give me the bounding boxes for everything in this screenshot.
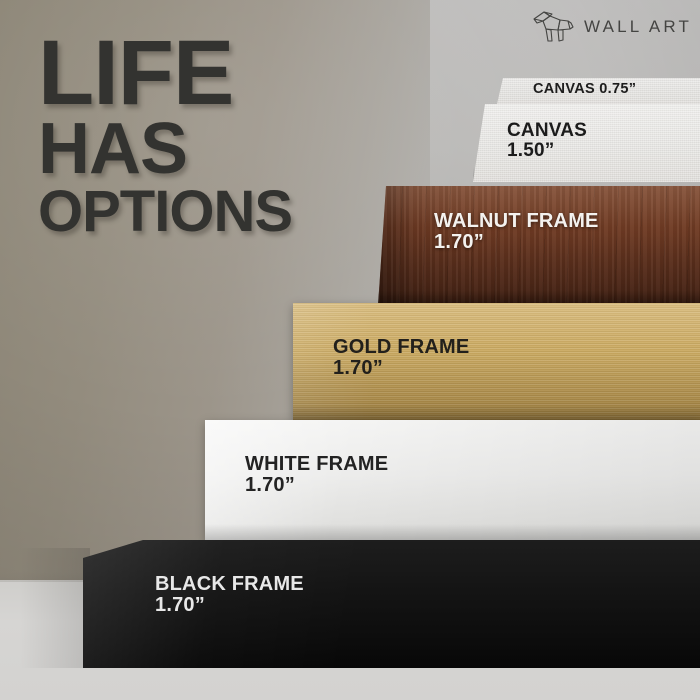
product-options-poster: WALL ART LIFE HAS OPTIONS CANVAS 0.75” C… <box>0 0 700 700</box>
headline-line-3: OPTIONS <box>38 187 378 237</box>
option-slab-gold-frame[interactable]: GOLD FRAME 1.70” <box>293 303 700 421</box>
option-label-walnut-frame: WALNUT FRAME 1.70” <box>434 211 599 253</box>
option-slab-black-frame[interactable]: BLACK FRAME 1.70” <box>83 540 700 668</box>
option-label-white-frame: WHITE FRAME 1.70” <box>245 454 388 496</box>
option-slab-walnut-frame[interactable]: WALNUT FRAME 1.70” <box>378 186 700 306</box>
option-slab-canvas-150[interactable]: CANVAS 1.50” <box>473 104 700 182</box>
option-label-black-frame: BLACK FRAME 1.70” <box>155 574 304 616</box>
option-label-canvas-150: CANVAS 1.50” <box>507 121 587 161</box>
page-title: LIFE HAS OPTIONS <box>38 34 378 237</box>
option-label-canvas-075: CANVAS 0.75” <box>533 82 636 97</box>
brand-name: WALL ART <box>584 17 692 37</box>
headline-line-2: HAS <box>38 119 378 181</box>
brand-logo: WALL ART <box>530 10 692 44</box>
option-label-gold-frame: GOLD FRAME 1.70” <box>333 337 469 379</box>
option-slab-canvas-075[interactable]: CANVAS 0.75” <box>497 78 700 104</box>
option-slab-white-frame[interactable]: WHITE FRAME 1.70” <box>205 420 700 542</box>
origami-goat-icon <box>530 10 576 44</box>
headline-line-1: LIFE <box>38 34 378 113</box>
